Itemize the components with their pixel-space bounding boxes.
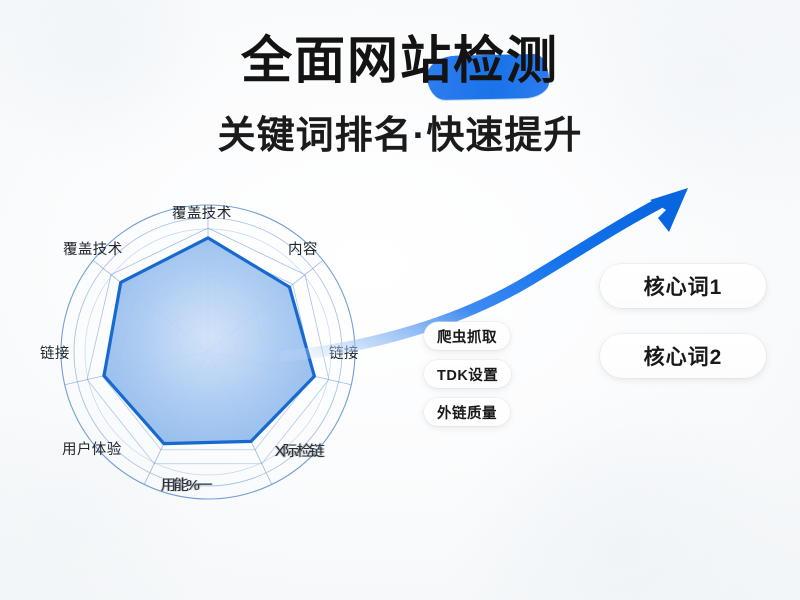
headline-block: 全面网站检测 关键词排名·快速提升	[0, 34, 800, 159]
tag-tdk[interactable]: TDK设置	[424, 360, 511, 388]
radar-chart: 覆盖技术 内容 链接 X际:检链 用能%一 用户体验 覆盖技术 链接	[36, 192, 386, 514]
tag-crawl[interactable]: 爬虫抓取	[424, 322, 510, 350]
radar-axis-label-upper-left: 覆盖技术	[63, 238, 123, 259]
title-part-after: 检测	[453, 32, 559, 89]
radar-axis-label-bottom: 用能%一	[161, 474, 210, 495]
radar-axis-label-top: 覆盖技术	[172, 202, 232, 223]
page-subtitle: 关键词排名·快速提升	[0, 104, 800, 159]
radar-axis-label-right: 链接	[329, 342, 359, 363]
page-title: 全面网站检测	[241, 34, 559, 88]
title-part-highlight: 网站	[347, 32, 453, 89]
tag-keyword-2[interactable]: 核心词2	[600, 334, 766, 378]
tag-backlink-quality[interactable]: 外链质量	[424, 398, 510, 426]
tag-keyword-1[interactable]: 核心词1	[600, 264, 766, 308]
radar-axis-label-left: 链接	[40, 342, 70, 363]
radar-axis-label-upper-right: 内容	[288, 238, 318, 259]
poster-canvas: 全面网站检测 关键词排名·快速提升	[0, 0, 800, 600]
radar-axis-label-lower-left: 用户体验	[62, 438, 122, 459]
radar-series-polygon	[104, 238, 314, 444]
radar-axis-label-lower-right: X际:检链	[275, 440, 322, 461]
title-part-before: 全面	[241, 32, 347, 89]
